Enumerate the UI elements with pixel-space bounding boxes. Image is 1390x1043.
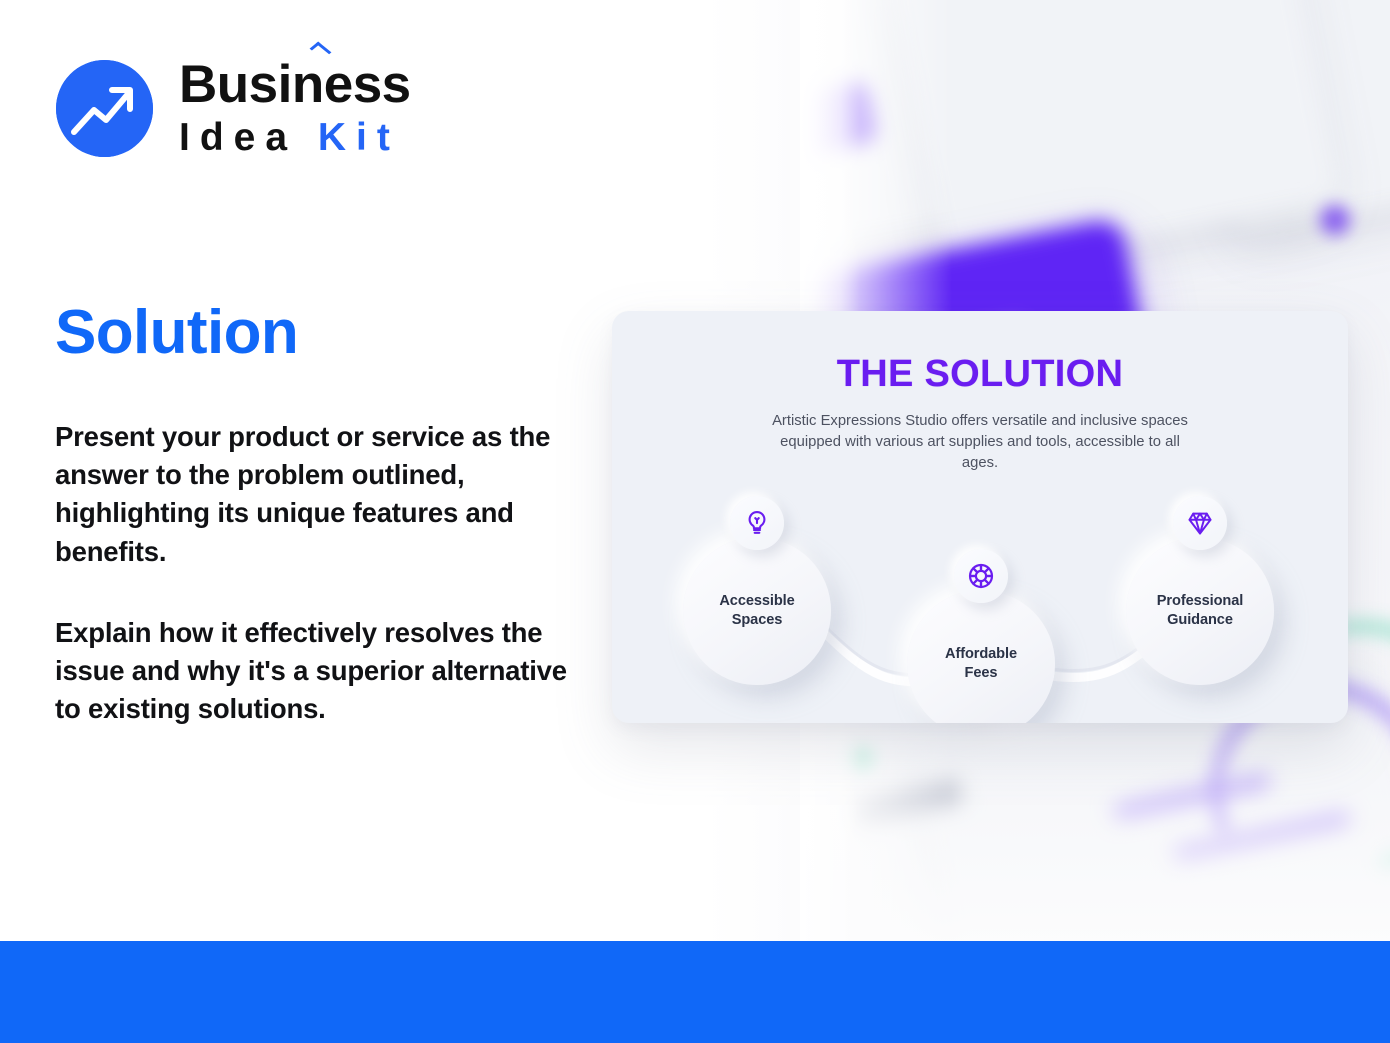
brand-name-top-text: Business <box>179 55 411 114</box>
solution-node-professional-guidance[interactable]: Professional Guidance <box>1126 537 1274 685</box>
brand-wordmark: Business Idea Kit <box>179 58 411 160</box>
footer-bar <box>0 941 1390 1043</box>
node-circle: Accessible Spaces <box>683 537 831 685</box>
node-label-line1: Affordable <box>945 646 1017 662</box>
node-circle: Affordable Fees <box>907 590 1055 723</box>
node-label-line1: Professional <box>1157 593 1243 609</box>
brand-logo[interactable]: Business Idea Kit <box>56 58 411 160</box>
diamond-icon <box>1173 496 1227 550</box>
solution-card-subtitle: Artistic Expressions Studio offers versa… <box>760 411 1200 474</box>
lightbulb-icon <box>730 496 784 550</box>
solution-node-affordable-fees[interactable]: Affordable Fees <box>907 590 1055 723</box>
solution-node-label: Professional Guidance <box>1145 592 1255 630</box>
page-title: Solution <box>55 297 298 368</box>
brand-name-idea: Idea <box>179 116 297 159</box>
body-paragraph-2: Explain how it effectively resolves the … <box>55 614 595 729</box>
solution-node-label: Accessible Spaces <box>707 592 806 630</box>
trend-arrow-circle-icon <box>56 60 153 157</box>
solution-card-title: THE SOLUTION <box>612 353 1348 396</box>
node-label-line1: Accessible <box>719 593 794 609</box>
solution-nodes: Accessible Spaces <box>612 480 1348 720</box>
node-circle: Professional Guidance <box>1126 537 1274 685</box>
brand-name-bottom: Idea Kit <box>179 117 411 160</box>
body-copy: Present your product or service as the a… <box>55 418 595 729</box>
brand-name-top: Business <box>179 58 411 111</box>
body-paragraph-1: Present your product or service as the a… <box>55 418 595 571</box>
solution-node-label: Affordable Fees <box>933 645 1029 683</box>
solution-node-accessible-spaces[interactable]: Accessible Spaces <box>683 537 831 685</box>
solution-card: THE SOLUTION Artistic Expressions Studio… <box>612 311 1348 723</box>
mock-dot <box>1320 205 1350 235</box>
node-label-line2: Guidance <box>1167 612 1233 628</box>
slide: Business Idea Kit Solution Present your … <box>0 0 1390 1043</box>
brand-name-kit: Kit <box>318 116 400 159</box>
lifebuoy-icon <box>954 549 1008 603</box>
node-label-line2: Spaces <box>732 612 783 628</box>
node-label-line2: Fees <box>965 665 998 681</box>
